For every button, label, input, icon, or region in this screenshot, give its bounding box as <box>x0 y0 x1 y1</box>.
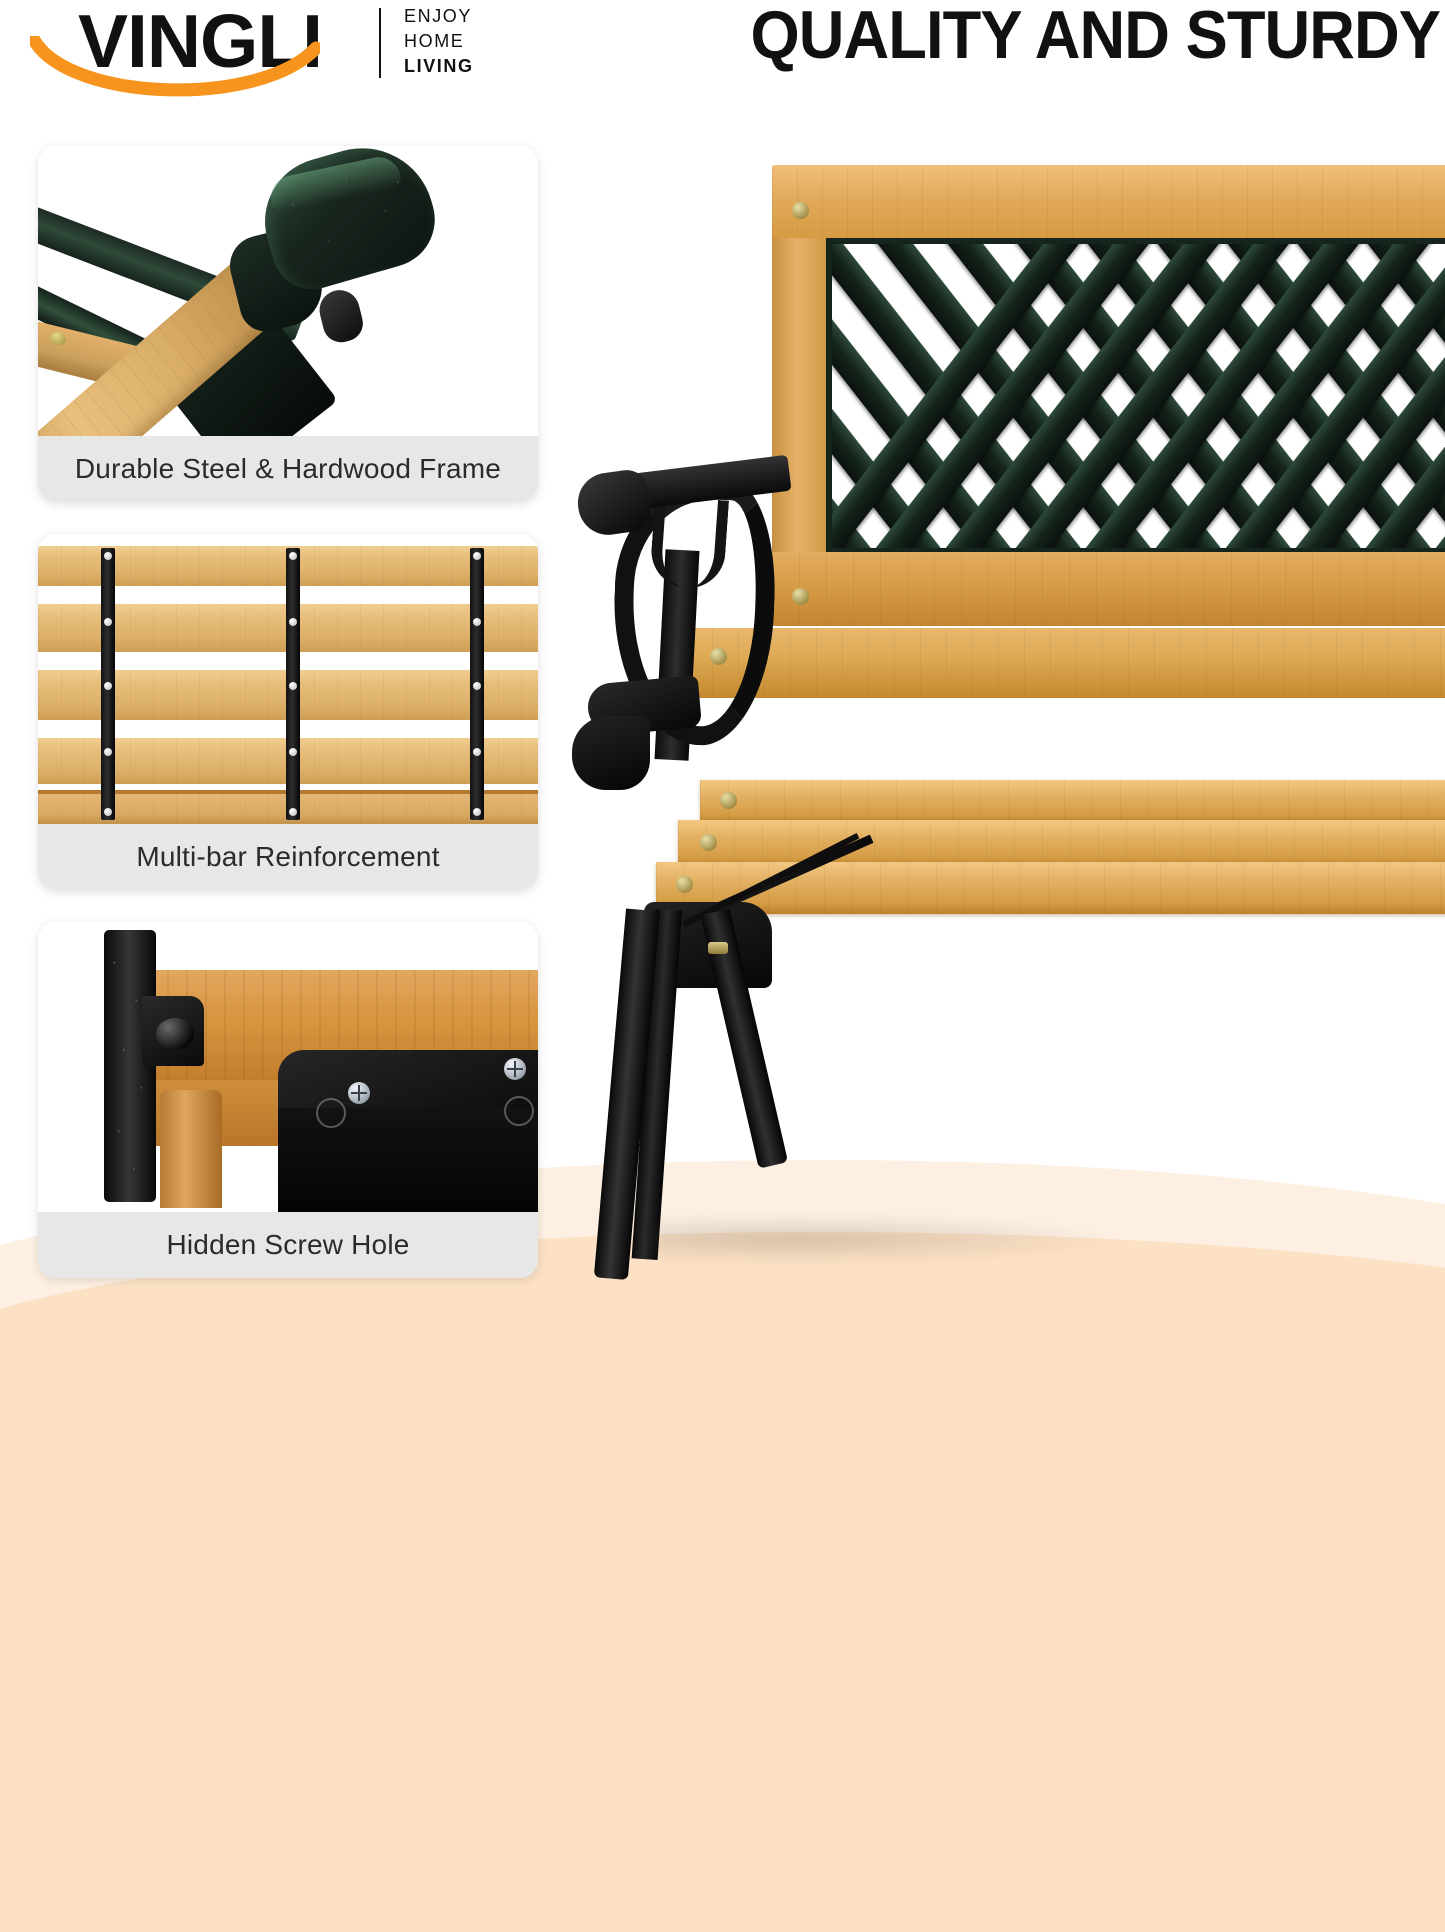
rail-screw <box>792 202 809 219</box>
bar-screw <box>289 682 297 690</box>
bar-screw <box>289 552 297 560</box>
hidden-screw-hole <box>504 1096 534 1126</box>
phillips-screw <box>348 1082 370 1104</box>
bar-screw <box>473 682 481 690</box>
iron-post <box>104 930 156 1202</box>
iron-post-texture <box>104 930 156 1202</box>
page-headline: QUALITY AND STURDY <box>622 0 1440 74</box>
ground-shadow <box>656 1214 1116 1264</box>
bar-screw <box>289 808 297 816</box>
bar-screw <box>289 748 297 756</box>
iron-dome-cap <box>156 1018 194 1050</box>
feature-photo-durable-frame <box>38 146 538 436</box>
bar-screw <box>473 552 481 560</box>
swoosh-icon <box>30 36 320 98</box>
iron-plate-lower <box>278 1108 538 1212</box>
bar-screw <box>473 748 481 756</box>
reinforcement-bar <box>101 548 115 820</box>
bar-screw <box>104 682 112 690</box>
brand-tagline: ENJOY HOME LIVING <box>404 4 514 79</box>
corner-joint-assembly <box>38 922 538 1212</box>
seat-screw <box>700 834 717 851</box>
bar-screw <box>289 618 297 626</box>
feature-card: Hidden Screw Hole <box>38 922 538 1278</box>
reinforcement-bar <box>286 548 300 820</box>
seat-screw <box>720 792 737 809</box>
feature-card: Durable Steel & Hardwood Frame <box>38 146 538 502</box>
leg-bolt <box>708 942 728 954</box>
backrest-top-rail <box>772 165 1445 243</box>
rail-screw <box>792 588 809 605</box>
reinforcement-bar <box>470 548 484 820</box>
seat-slat <box>656 862 1445 914</box>
armrest-foot-lower <box>572 716 650 790</box>
feature-card: Multi-bar Reinforcement <box>38 534 538 890</box>
brand-logo: VINGLI ENJOY HOME LIVING <box>22 2 492 102</box>
feature-photo-multibar <box>38 534 538 824</box>
bar-screw <box>473 618 481 626</box>
bar-screw <box>104 748 112 756</box>
backrest-lower-board <box>686 628 1445 698</box>
tagline-living: LIVING <box>404 54 514 79</box>
seat-slat <box>700 780 1445 824</box>
bar-screw <box>104 618 112 626</box>
tagline-enjoy: ENJOY <box>404 4 514 29</box>
hidden-screw-hole <box>316 1098 346 1128</box>
feature-card-list: Durable Steel & Hardwood Frame <box>38 146 538 1310</box>
seat-screw <box>676 876 693 893</box>
bar-screw <box>104 808 112 816</box>
feature-caption: Durable Steel & Hardwood Frame <box>38 436 538 502</box>
tagline-home: HOME <box>404 29 514 54</box>
seat-slat <box>678 820 1445 868</box>
logo-divider <box>379 8 381 78</box>
page-header: VINGLI ENJOY HOME LIVING QUALITY AND STU… <box>0 0 1445 115</box>
background-curve-deep <box>0 1232 1445 1932</box>
lattice-panel <box>826 238 1445 554</box>
feature-caption: Hidden Screw Hole <box>38 1212 538 1278</box>
hero-product-photo <box>560 120 1445 1280</box>
feature-photo-screw-hole <box>38 922 538 1212</box>
bar-screw <box>104 552 112 560</box>
slat-assembly <box>38 534 538 824</box>
phillips-screw <box>504 1058 526 1080</box>
backrest-left-stile <box>772 238 828 558</box>
backrest-bottom-rail <box>772 552 1445 626</box>
feature-caption: Multi-bar Reinforcement <box>38 824 538 890</box>
iron-knob <box>315 286 366 346</box>
bar-screw <box>473 808 481 816</box>
wood-peg <box>160 1090 222 1208</box>
